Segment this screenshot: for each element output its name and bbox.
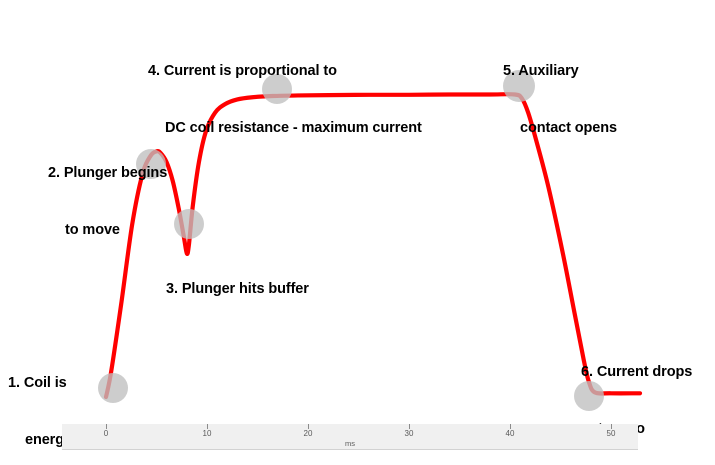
x-axis-label: ms: [62, 439, 638, 448]
annotation-3-line-1: 3. Plunger hits buffer: [166, 280, 309, 299]
x-axis-tick-label: 0: [104, 429, 108, 439]
x-axis-tick-label: 40: [506, 429, 515, 439]
annotation-3-plunger-hits-buffer: 3. Plunger hits buffer: [166, 242, 309, 337]
current-waveform-figure: 1. Coil is energized 2. Plunger begins t…: [0, 0, 715, 465]
annotation-5-line-1: 5. Auxiliary: [503, 62, 617, 81]
annotation-2-line-2: to move: [48, 221, 167, 240]
x-axis: 01020304050 ms: [62, 424, 638, 450]
annotation-5-line-2: contact opens: [503, 119, 617, 138]
x-axis-tick-label: 20: [304, 429, 313, 439]
annotation-5-auxiliary-contact-opens: 5. Auxiliary contact opens: [503, 24, 617, 176]
plot-area: 1. Coil is energized 2. Plunger begins t…: [0, 0, 715, 465]
marker-dot-3: [174, 209, 204, 239]
annotation-4-maximum-current: 4. Current is proportional to DC coil re…: [148, 24, 422, 176]
annotation-4-line-2: DC coil resistance - maximum current: [148, 119, 422, 138]
annotation-6-line-1: 6. Current drops: [581, 363, 692, 382]
marker-dot-1: [98, 373, 128, 403]
annotation-1-line-1: 1. Coil is: [8, 374, 92, 393]
x-axis-tick-label: 30: [405, 429, 414, 439]
annotation-4-line-1: 4. Current is proportional to: [148, 62, 422, 81]
x-axis-tick-label: 10: [203, 429, 212, 439]
x-axis-tick-label: 50: [607, 429, 616, 439]
